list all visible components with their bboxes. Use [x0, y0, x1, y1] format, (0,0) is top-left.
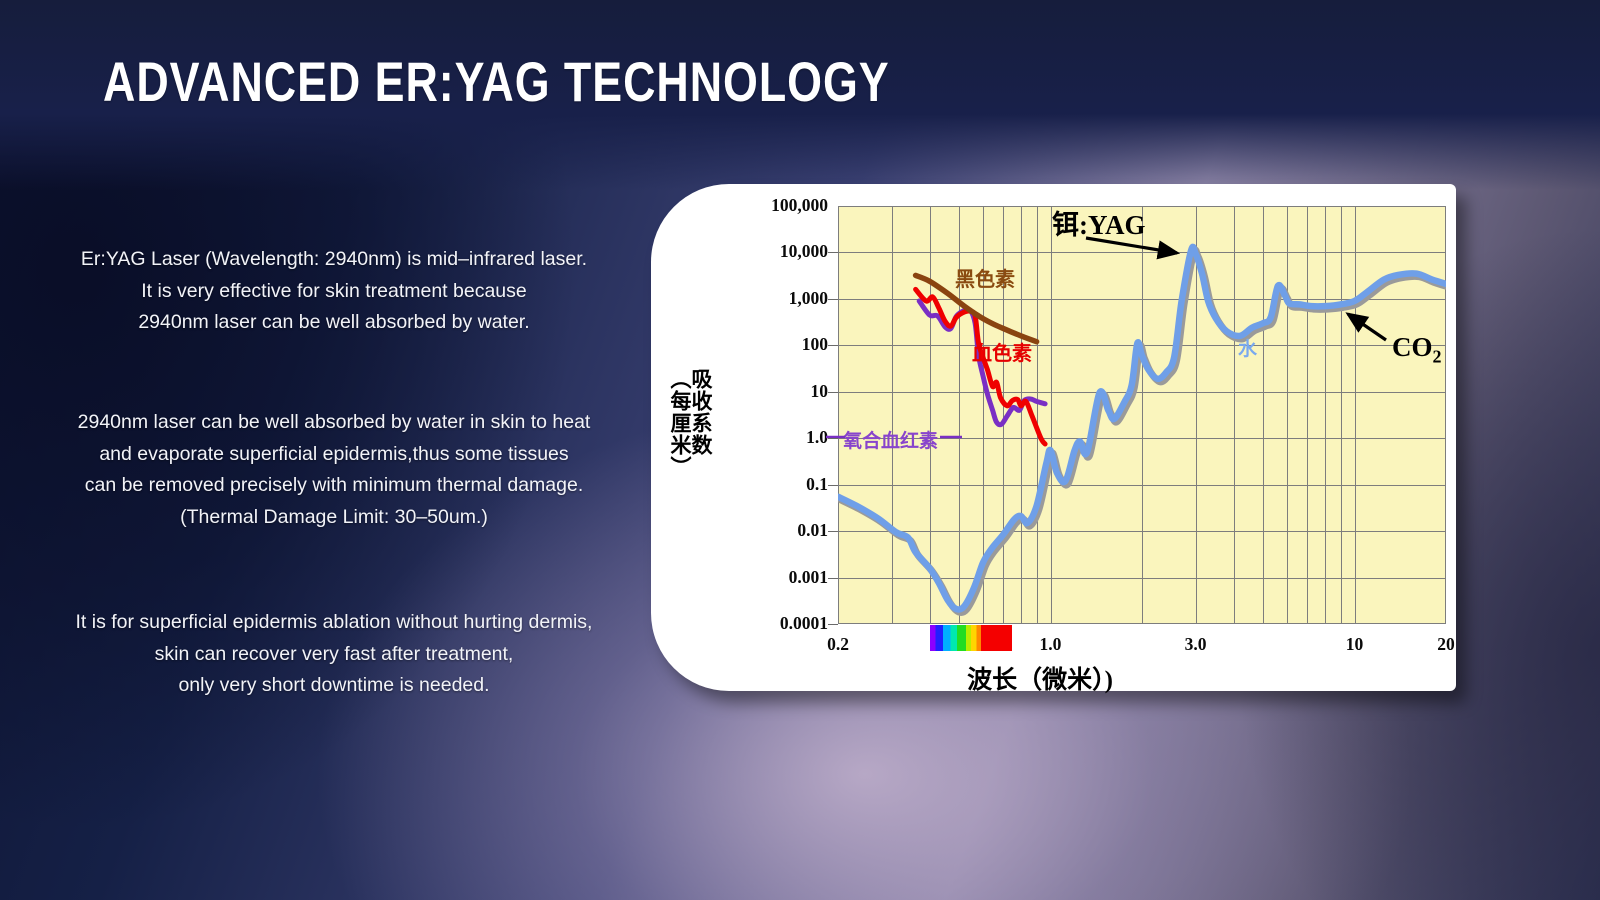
paragraph-line: It is very effective for skin treatment … — [34, 276, 634, 308]
chart-y-tick-label: 10,000 — [780, 241, 828, 262]
paragraph-line: can be removed precisely with minimum th… — [34, 470, 634, 502]
visible-spectrum-bar — [930, 625, 1013, 651]
chart-y-axis-title: 吸收系数 （每厘米） — [660, 368, 720, 548]
paragraph-line: skin can recover very fast after treatme… — [34, 639, 634, 671]
chart-y-tick-label: 100,000 — [771, 195, 828, 216]
chart-y-tick — [828, 392, 838, 393]
chart-series-layer — [838, 206, 1446, 624]
chart-y-tick — [828, 485, 838, 486]
chart-y-tick-label: 0.1 — [806, 474, 828, 495]
paragraph-recovery: It is for superficial epidermis ablation… — [34, 607, 634, 702]
chart-x-tick-label: 10 — [1346, 634, 1364, 655]
paragraph-line: 2940nm laser can be well absorbed by wat… — [34, 407, 634, 439]
y-axis-title-col2: （每厘米） — [669, 368, 690, 548]
chart-y-tick — [828, 624, 838, 625]
chart-y-tick-label: 0.001 — [789, 567, 828, 588]
paragraph-intro: Er:YAG Laser (Wavelength: 2940nm) is mid… — [34, 244, 634, 339]
chart-y-tick — [828, 438, 838, 439]
chart-x-axis-title: 波长（微米）) — [967, 660, 1113, 696]
chart-y-tick — [828, 299, 838, 300]
y-axis-title-col1: 吸收系数 — [690, 368, 711, 548]
paragraph-line: (Thermal Damage Limit: 30–50um.) — [34, 502, 634, 534]
paragraph-mechanism: 2940nm laser can be well absorbed by wat… — [34, 407, 634, 533]
chart-x-tick-label: 0.2 — [827, 634, 849, 655]
chart-y-tick-label: 1,000 — [789, 288, 828, 309]
paragraph-line: and evaporate superficial epidermis,thus… — [34, 439, 634, 471]
chart-y-tick — [828, 531, 838, 532]
chart-x-tick-label: 20 — [1437, 634, 1455, 655]
paragraph-line: only very short downtime is needed. — [34, 670, 634, 702]
chart-y-tick — [828, 578, 838, 579]
chart-y-tick — [828, 252, 838, 253]
paragraph-line: It is for superficial epidermis ablation… — [34, 607, 634, 639]
chart-y-tick-label: 1.0 — [806, 427, 828, 448]
chart-y-tick-label: 0.0001 — [780, 613, 828, 634]
chart-y-tick-label: 100 — [802, 334, 828, 355]
chart-x-tick-label: 3.0 — [1185, 634, 1207, 655]
paragraph-line: 2940nm laser can be well absorbed by wat… — [34, 307, 634, 339]
chart-y-tick-label: 0.01 — [797, 520, 828, 541]
series-shadow-water — [841, 250, 1447, 613]
paragraph-line: Er:YAG Laser (Wavelength: 2940nm) is mid… — [34, 244, 634, 276]
page-title: Advanced Er:YAG Technology — [103, 49, 890, 114]
chart-y-tick-label: 10 — [811, 381, 829, 402]
chart-x-tick-label: 1.0 — [1040, 634, 1062, 655]
chart-y-tick — [828, 345, 838, 346]
